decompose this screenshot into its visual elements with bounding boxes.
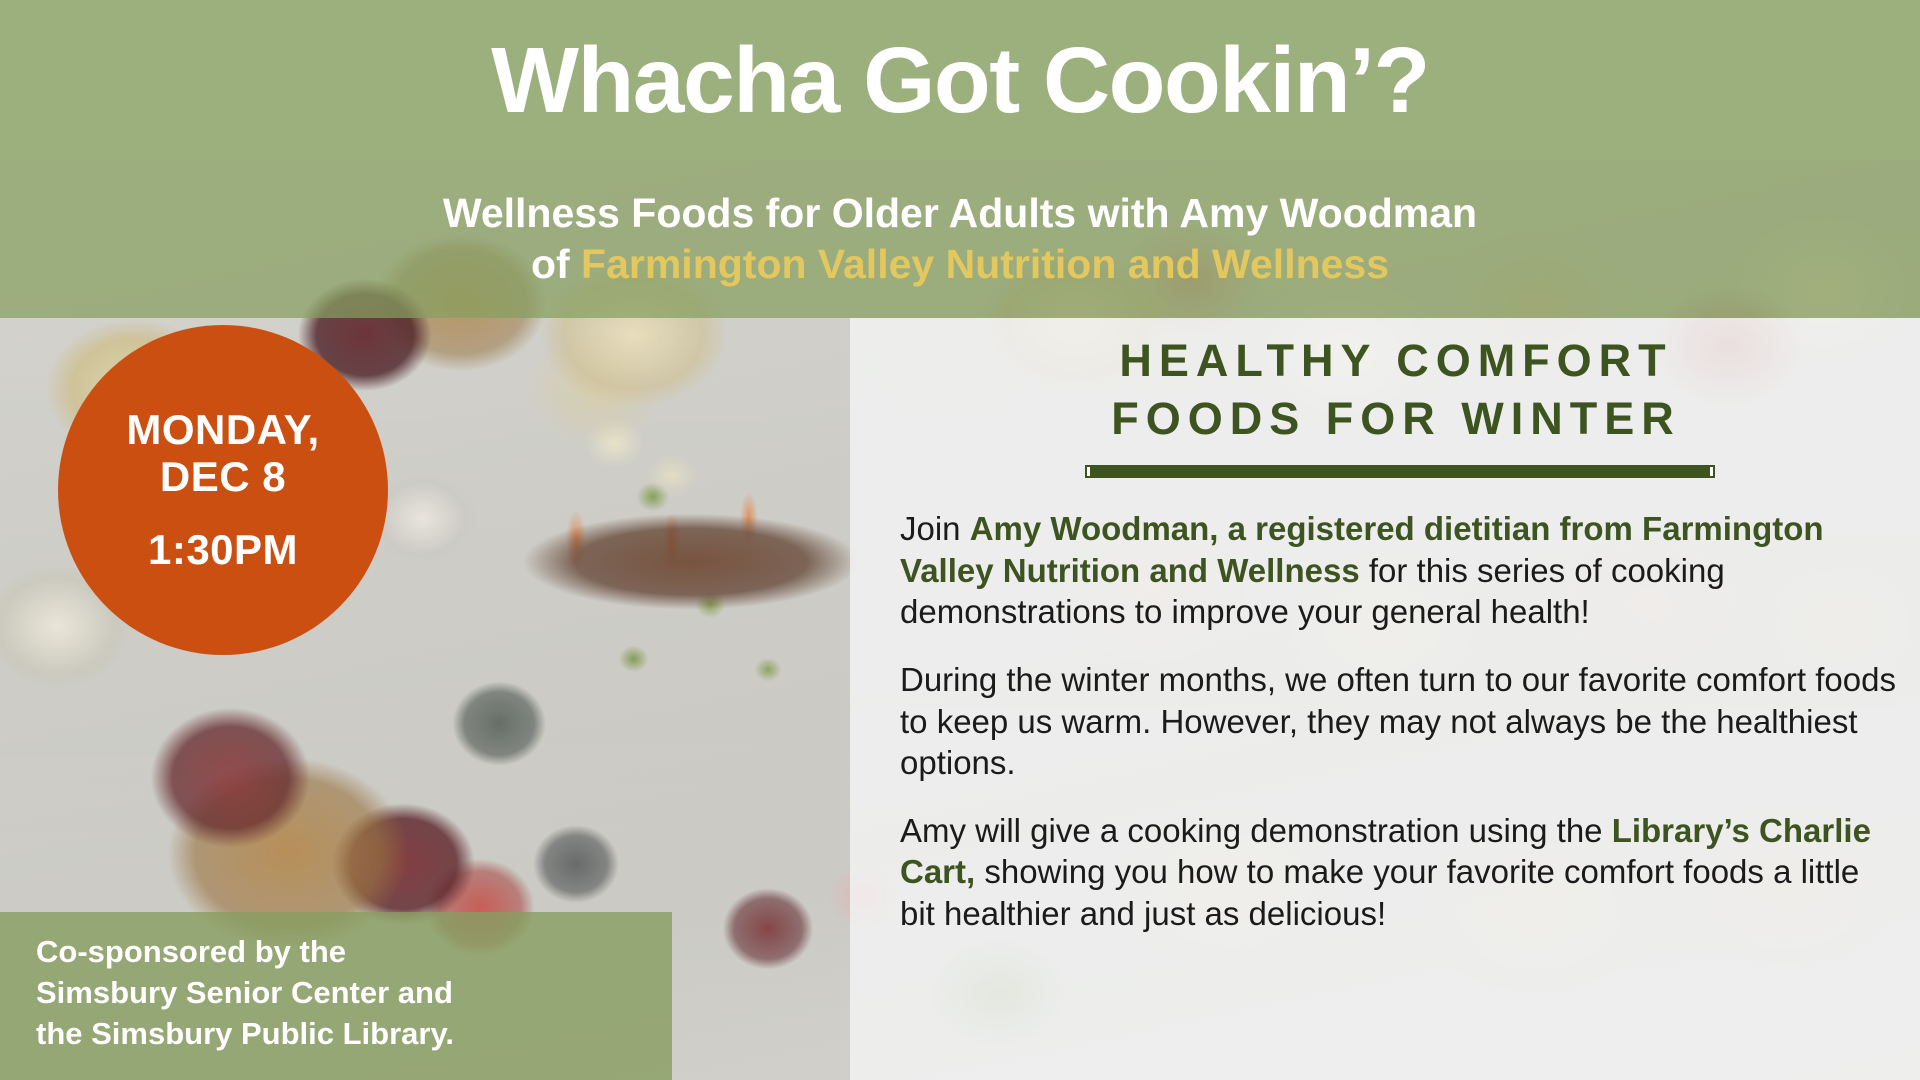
section-heading-line-1: HEALTHY COMFORT <box>900 332 1900 390</box>
subtitle-line-2: of Farmington Valley Nutrition and Welln… <box>531 239 1389 290</box>
badge-day-line-1: MONDAY, <box>126 406 319 453</box>
cosponsor-line-1: Co-sponsored by the <box>36 932 672 973</box>
title-band: Whacha Got Cookin’? <box>0 0 1920 160</box>
paragraph-3: Amy will give a cooking demonstration us… <box>900 810 1900 935</box>
p3-part-2: showing you how to make your favorite co… <box>900 853 1859 932</box>
paragraph-2: During the winter months, we often turn … <box>900 659 1900 784</box>
heading-divider-rule <box>1085 465 1715 478</box>
paragraph-1: Join Amy Woodman, a registered dietitian… <box>900 508 1900 633</box>
badge-time: 1:30PM <box>148 526 298 574</box>
flyer-root: Whacha Got Cookin’? Wellness Foods for O… <box>0 0 1920 1080</box>
flyer-title: Whacha Got Cookin’? <box>491 34 1429 127</box>
badge-day-line-2: DEC 8 <box>160 453 286 500</box>
cosponsor-line-2: Simsbury Senior Center and <box>36 973 672 1014</box>
cosponsor-line-3: the Simsbury Public Library. <box>36 1014 672 1055</box>
p3-part-1: Amy will give a cooking demonstration us… <box>900 812 1612 849</box>
date-badge: MONDAY, DEC 8 1:30PM <box>58 325 388 655</box>
cosponsor-band: Co-sponsored by the Simsbury Senior Cent… <box>0 912 672 1080</box>
section-heading-line-2: FOODS FOR WINTER <box>900 390 1900 448</box>
subtitle-prefix: of <box>531 241 581 287</box>
body-text-block: Join Amy Woodman, a registered dietitian… <box>900 508 1900 934</box>
subtitle-band: Wellness Foods for Older Adults with Amy… <box>0 160 1920 318</box>
organization-name: Farmington Valley Nutrition and Wellness <box>581 241 1389 287</box>
subtitle-line-1: Wellness Foods for Older Adults with Amy… <box>443 188 1477 239</box>
right-content-column: HEALTHY COMFORT FOODS FOR WINTER Join Am… <box>900 332 1900 934</box>
p1-part-1: Join <box>900 510 970 547</box>
